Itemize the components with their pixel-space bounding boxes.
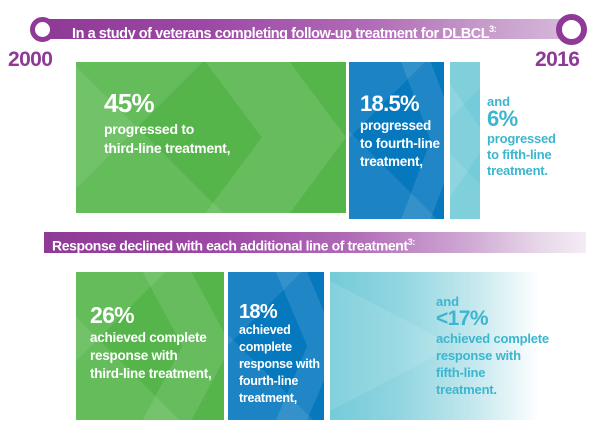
section1-header: In a study of veterans completing follow… <box>30 17 586 41</box>
section2-desc-fourth-line-4: fourth-line <box>239 373 298 390</box>
timeline-year-end: 2016 <box>535 48 579 72</box>
section2-desc-fifth-line-1: achieved complete <box>436 331 549 347</box>
section2-desc-fourth-line-3: response with <box>239 356 320 373</box>
timeline-end-circle-icon <box>556 14 587 45</box>
section2-value-third-line: 26% <box>90 301 134 329</box>
section1-desc-fifth-line-1: progressed <box>487 131 556 147</box>
section2-block-third-line: 26% achieved complete response with thir… <box>76 272 224 420</box>
section2-desc-third-line-2: response with <box>90 348 178 365</box>
section1-value-fourth-line: 18.5% <box>360 90 419 118</box>
section2-header-bar: Response declined with each additional l… <box>44 232 586 253</box>
section1-desc-third-line-2: third-line treatment, <box>104 140 230 157</box>
timeline-year-start: 2000 <box>8 48 52 72</box>
section2-header-footnote: 3: <box>408 237 415 247</box>
section1-desc-fifth-line-3: treatment. <box>487 163 548 179</box>
section2-desc-fifth-line-4: treatment. <box>436 382 497 398</box>
section2-desc-fourth-line-1: achieved <box>239 322 291 339</box>
section1-block-fourth-line: 18.5% progressed to fourth-line treatmen… <box>349 62 444 219</box>
timeline-start-circle-icon <box>30 17 55 42</box>
section2-desc-fourth-line-2: complete <box>239 339 292 356</box>
section1-desc-third-line-1: progressed to <box>104 121 194 138</box>
section1-block-fifth-line <box>450 62 480 219</box>
section1-value-third-line: 45% <box>104 89 154 117</box>
section2-desc-fourth-line-5: treatment, <box>239 390 297 407</box>
section2-desc-third-line-3: third-line treatment, <box>90 366 212 383</box>
section2-value-fifth-line: <17% <box>436 307 488 330</box>
infographic-page: In a study of veterans completing follow… <box>0 0 600 438</box>
section2-desc-fifth-line-3: fifth-line <box>436 365 485 381</box>
section1-header-label: In a study of veterans completing follow… <box>72 26 489 42</box>
section1-desc-fourth-line-1: progressed <box>360 118 431 135</box>
section1-header-text: In a study of veterans completing follow… <box>72 19 496 39</box>
section2-header-text: Response declined with each additional l… <box>52 233 415 252</box>
section2-desc-third-line-1: achieved complete <box>90 330 207 347</box>
section2-header-label: Response declined with each additional l… <box>52 238 408 254</box>
section1-desc-fourth-line-3: treatment, <box>360 154 423 171</box>
section1-desc-fourth-line-2: to fourth-line <box>360 136 440 153</box>
arrow-accent-icon <box>330 272 438 420</box>
section2-desc-fifth-line-2: response with <box>436 348 521 364</box>
section1-desc-fifth-line-2: to fifth-line <box>487 147 552 163</box>
section1-value-fifth-line: 6% <box>487 107 518 130</box>
section1-block-third-line: 45% progressed to third-line treatment, <box>76 62 346 213</box>
section2-block-fourth-line: 18% achieved complete response with four… <box>228 272 324 420</box>
section1-header-footnote: 3: <box>489 24 496 34</box>
